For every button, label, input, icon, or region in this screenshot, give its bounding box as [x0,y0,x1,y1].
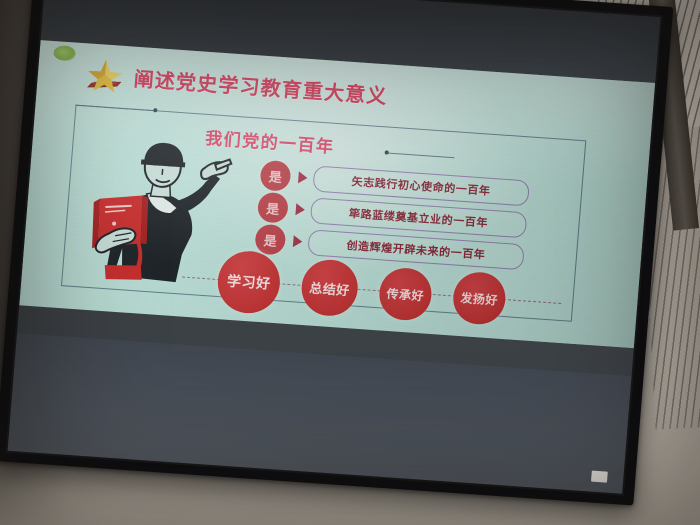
outcome-circle: 传承好 [377,266,433,321]
marker-circle: 是 [254,224,286,256]
outcome-circle: 学习好 [215,249,282,315]
green-blob-artifact [53,45,76,61]
screen-brand-label [591,471,608,483]
outcome-circle: 总结好 [299,258,359,318]
photo-scene: 阐述党史学习教育重大意义 我们党的一百年 [0,0,700,525]
outcome-circle: 发扬好 [451,271,507,326]
red-star-with-ribbon-icon [81,56,130,95]
triangle-right-icon [293,235,303,248]
screen-surface: 阐述党史学习教育重大意义 我们党的一百年 [8,0,661,494]
triangle-right-icon [298,171,308,184]
slide-title: 阐述党史学习教育重大意义 [133,63,389,110]
man-reading-book-illustration [79,136,241,296]
slide-canvas: 阐述党史学习教育重大意义 我们党的一百年 [19,40,655,348]
triangle-right-icon [295,203,305,216]
projection-screen: 阐述党史学习教育重大意义 我们党的一百年 [0,0,673,506]
marker-circle: 是 [259,160,291,192]
marker-circle: 是 [257,192,289,224]
